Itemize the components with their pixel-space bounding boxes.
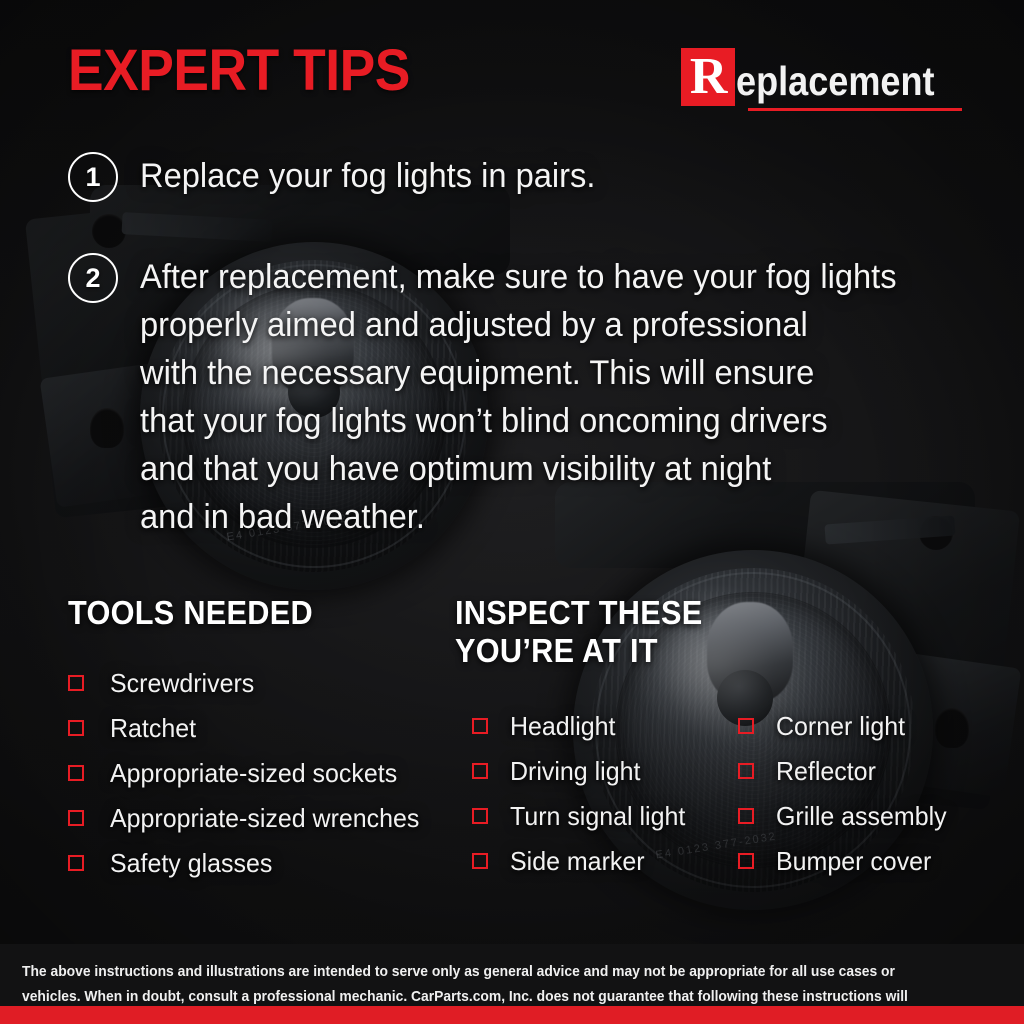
list-item-label: Corner light bbox=[776, 711, 905, 741]
checkbox-icon[interactable] bbox=[68, 720, 84, 736]
tools-needed-heading: TOOLS NEEDED bbox=[68, 594, 313, 632]
list-item-label: Reflector bbox=[776, 756, 876, 786]
list-item[interactable]: Appropriate-sized wrenches bbox=[68, 795, 432, 840]
list-item-label: Appropriate-sized wrenches bbox=[110, 803, 419, 833]
list-item[interactable]: Ratchet bbox=[68, 705, 432, 750]
checkbox-icon[interactable] bbox=[738, 853, 754, 869]
tip-number-1: 1 bbox=[68, 152, 118, 202]
checkbox-icon[interactable] bbox=[472, 763, 488, 779]
list-item[interactable]: Driving light bbox=[472, 748, 693, 793]
list-item[interactable]: Grille assembly bbox=[738, 793, 954, 838]
tools-needed-list: Screwdrivers Ratchet Appropriate-sized s… bbox=[68, 660, 432, 885]
tip-number-2: 2 bbox=[68, 253, 118, 303]
tip-item-2: 2 After replacement, make sure to have y… bbox=[68, 253, 928, 541]
list-item-label: Headlight bbox=[510, 711, 615, 741]
list-item-label: Driving light bbox=[510, 756, 640, 786]
inspect-list-column-1: Headlight Driving light Turn signal ligh… bbox=[472, 703, 693, 883]
logo-wordmark: R eplacement bbox=[681, 48, 962, 106]
checkbox-icon[interactable] bbox=[68, 810, 84, 826]
logo-word: eplacement bbox=[736, 59, 935, 103]
list-item-label: Turn signal light bbox=[510, 801, 685, 831]
list-item-label: Side marker bbox=[510, 846, 645, 876]
list-item-label: Safety glasses bbox=[110, 848, 272, 878]
list-item[interactable]: Appropriate-sized sockets bbox=[68, 750, 432, 795]
list-item-label: Ratchet bbox=[110, 713, 196, 743]
checkbox-icon[interactable] bbox=[68, 855, 84, 871]
list-item[interactable]: Bumper cover bbox=[738, 838, 954, 883]
inspect-list-column-2: Corner light Reflector Grille assembly B… bbox=[738, 703, 954, 883]
footer: The above instructions and illustrations… bbox=[0, 944, 1024, 1006]
list-item[interactable]: Reflector bbox=[738, 748, 954, 793]
inspect-these-heading: INSPECT THESE YOU’RE AT IT bbox=[455, 594, 702, 670]
list-item-label: Grille assembly bbox=[776, 801, 947, 831]
content-layer: EXPERT TIPS R eplacement 1 Replace your … bbox=[0, 0, 1024, 1024]
checkbox-icon[interactable] bbox=[738, 808, 754, 824]
checkbox-icon[interactable] bbox=[738, 763, 754, 779]
tip-text-2: After replacement, make sure to have you… bbox=[140, 253, 897, 541]
list-item-label: Appropriate-sized sockets bbox=[110, 758, 397, 788]
expert-tips-infographic: E4 0123 377-2032 E4 0123 377-2032 EXPERT… bbox=[0, 0, 1024, 1024]
logo-underline bbox=[748, 108, 962, 111]
logo-initial: R bbox=[681, 48, 736, 106]
list-item-label: Screwdrivers bbox=[110, 668, 254, 698]
list-item[interactable]: Corner light bbox=[738, 703, 954, 748]
checkbox-icon[interactable] bbox=[472, 718, 488, 734]
list-item[interactable]: Screwdrivers bbox=[68, 660, 432, 705]
list-item-label: Bumper cover bbox=[776, 846, 931, 876]
checkbox-icon[interactable] bbox=[472, 853, 488, 869]
list-item[interactable]: Side marker bbox=[472, 838, 693, 883]
checkbox-icon[interactable] bbox=[68, 675, 84, 691]
checkbox-icon[interactable] bbox=[738, 718, 754, 734]
tip-text-1: Replace your fog lights in pairs. bbox=[140, 152, 595, 200]
tip-item-1: 1 Replace your fog lights in pairs. bbox=[68, 152, 614, 202]
list-item[interactable]: Headlight bbox=[472, 703, 693, 748]
checkbox-icon[interactable] bbox=[472, 808, 488, 824]
checkbox-icon[interactable] bbox=[68, 765, 84, 781]
replacement-logo: R eplacement bbox=[681, 48, 962, 111]
list-item[interactable]: Safety glasses bbox=[68, 840, 432, 885]
page-title: EXPERT TIPS bbox=[68, 42, 410, 100]
list-item[interactable]: Turn signal light bbox=[472, 793, 693, 838]
bottom-accent-bar bbox=[0, 1006, 1024, 1024]
